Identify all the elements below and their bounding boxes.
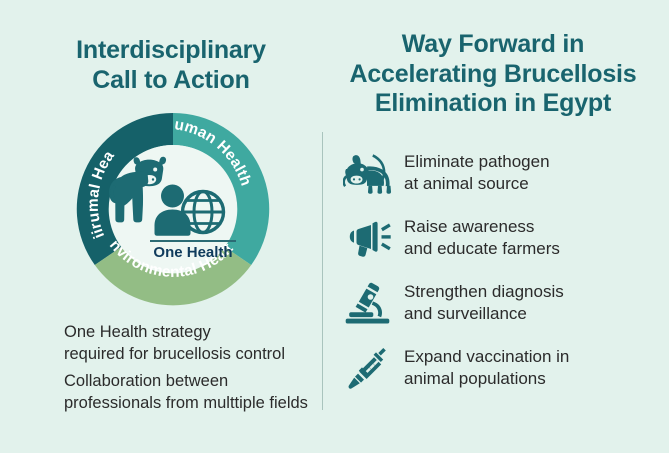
right-title-line-2: Accelerating Brucellosis — [338, 60, 648, 90]
right-title-line-3: Elimination in Egypt — [338, 89, 648, 119]
action-item-4-line-1: Expand vaccination in — [404, 346, 569, 368]
cow-icon — [338, 145, 400, 201]
action-item-3-line-2: and surveillance — [404, 303, 564, 325]
action-item-raise-awareness: Raise awareness and educate farmers — [338, 207, 658, 269]
one-health-label: One Health — [128, 244, 258, 261]
column-divider — [322, 132, 323, 410]
action-item-2-text: Raise awareness and educate farmers — [400, 216, 560, 260]
left-note-1-line-2: required for brucellosis control — [64, 344, 314, 366]
left-note-one-health-strategy: One Health strategy required for brucell… — [64, 322, 314, 366]
microscope-icon — [338, 275, 400, 331]
action-item-4-line-2: animal populations — [404, 368, 569, 390]
left-title-line-2: Call to Action — [36, 66, 306, 96]
left-note-2-line-1: Collaboration between — [64, 371, 324, 393]
left-note-collaboration: Collaboration between professionals from… — [64, 371, 324, 415]
action-item-2-line-1: Raise awareness — [404, 216, 560, 238]
action-item-1-line-2: at animal source — [404, 173, 550, 195]
action-item-1-line-1: Eliminate pathogen — [404, 151, 550, 173]
action-item-expand-vaccination: Expand vaccination in animal populations — [338, 337, 658, 399]
action-item-2-line-2: and educate farmers — [404, 238, 560, 260]
action-item-3-line-1: Strengthen diagnosis — [404, 281, 564, 303]
right-title-line-1: Way Forward in — [338, 30, 648, 60]
left-note-1-line-1: One Health strategy — [64, 322, 314, 344]
left-title-line-1: Interdisciplinary — [36, 36, 306, 66]
megaphone-icon — [338, 210, 400, 266]
way-forward-action-list: Eliminate pathogen at animal source Rais… — [338, 142, 658, 402]
action-item-strengthen-diagnosis: Strengthen diagnosis and surveillance — [338, 272, 658, 334]
one-health-rule — [150, 240, 236, 242]
left-note-2-line-2: professionals from multtiple fields — [64, 393, 324, 415]
action-item-1-text: Eliminate pathogen at animal source — [400, 151, 550, 195]
action-item-3-text: Strengthen diagnosis and surveillance — [400, 281, 564, 325]
action-item-eliminate-pathogen: Eliminate pathogen at animal source — [338, 142, 658, 204]
syringe-icon — [338, 340, 400, 396]
infographic-page: Interdisciplinary Call to Action Way For… — [0, 0, 669, 453]
donut-svg: Emiirumal Health Human Health Environmen… — [77, 113, 269, 305]
one-health-donut-diagram: Emiirumal Health Human Health Environmen… — [77, 113, 269, 305]
left-panel-title: Interdisciplinary Call to Action — [36, 36, 306, 95]
action-item-4-text: Expand vaccination in animal populations — [400, 346, 569, 390]
right-panel-title: Way Forward in Accelerating Brucellosis … — [338, 30, 648, 119]
